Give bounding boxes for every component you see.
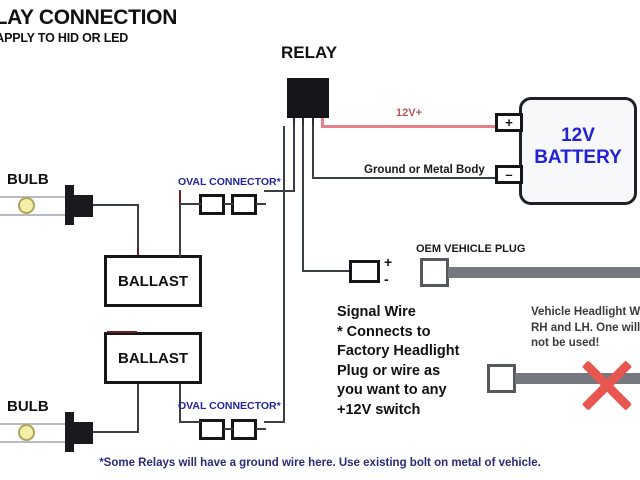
relay-label: RELAY (281, 43, 337, 63)
bulb-label-bottom: BULB (7, 398, 49, 415)
signal-wire-vertical (302, 126, 304, 271)
page-subtitle: CAN APPLY TO HID OR LED (0, 31, 128, 45)
relay-ground-stub (312, 126, 314, 178)
bulb-filament-wire-bottom (0, 441, 70, 443)
signal-wire-horizontal (302, 270, 352, 272)
bulb-label-top: BULB (7, 171, 49, 188)
bulb-to-ballast-wire-bottom (93, 431, 139, 433)
signal-connector-plus: + (384, 255, 392, 269)
bulb-filament-wire-top (0, 196, 70, 198)
bulb-base-bottom (74, 422, 93, 444)
output-wire-lower-horizontal (264, 421, 285, 423)
wiring-diagram-canvas: RELAY CONNECTION CAN APPLY TO HID OR LED… (0, 0, 640, 480)
ground-wire-label: Ground or Metal Body (364, 164, 485, 176)
oval-connector-box-top (199, 194, 225, 215)
ballast-bottom: BALLAST (104, 332, 202, 384)
bulb-base-top (74, 195, 93, 217)
battery-positive-terminal: + (495, 113, 523, 132)
oval-connector-box-bottom (231, 419, 257, 440)
oval-connector-box-bottom (199, 419, 225, 440)
oval-connector-lead-bottom (224, 428, 233, 430)
battery-label: 12V BATTERY (519, 125, 637, 169)
signal-connector-box (349, 260, 380, 283)
relay-body (287, 78, 329, 118)
output-wire-upper-vertical (293, 126, 295, 191)
battery-ground-wire (312, 177, 500, 179)
unused-plug-box (487, 364, 516, 393)
oval-connector-lead-top (179, 203, 201, 205)
signal-connector-minus: - (384, 272, 389, 286)
bulb-glass-bottom (18, 424, 35, 441)
ballast-top: BALLAST (104, 255, 202, 307)
bulb-flange-bottom (65, 412, 74, 452)
oval-connector-lead-top (224, 203, 233, 205)
ballast-input-marker-bottom (107, 331, 137, 333)
oem-plug-label: OEM VEHICLE PLUG (416, 243, 525, 255)
positive-wire-label: 12V+ (396, 107, 422, 119)
oval-connector-lead-bottom (256, 428, 266, 430)
oem-plug-box (420, 258, 449, 287)
oval-connector-label-bottom: OVAL CONNECTOR* (178, 400, 281, 412)
headlight-warning-text: Vehicle Headlight W RH and LH. One will … (531, 305, 640, 352)
bulb-filament-wire-top (0, 214, 70, 216)
bulb-filament-wire-bottom (0, 423, 70, 425)
oem-plug-cable (448, 267, 640, 278)
battery-positive-wire (321, 125, 499, 128)
output-wire-lower-vertical (283, 126, 285, 422)
battery-negative-terminal: – (495, 165, 523, 184)
output-wire-upper-horizontal (264, 190, 295, 192)
bulb-flange-top (65, 185, 74, 225)
oval-connector-box-top (231, 194, 257, 215)
page-title: RELAY CONNECTION (0, 6, 177, 30)
bulb-glass-top (18, 197, 35, 214)
bulb-to-ballast-wire-bottom (137, 384, 139, 433)
oval-connector-label-top: OVAL CONNECTOR* (178, 176, 281, 188)
oval-connector-lead-bottom (179, 421, 201, 423)
oval-connector-lead-top (256, 203, 266, 205)
footnote-text: *Some Relays will have a ground wire her… (0, 457, 640, 469)
signal-wire-note: Signal Wire * Connects to Factory Headli… (337, 303, 507, 420)
bulb-to-ballast-wire-top (93, 204, 139, 206)
